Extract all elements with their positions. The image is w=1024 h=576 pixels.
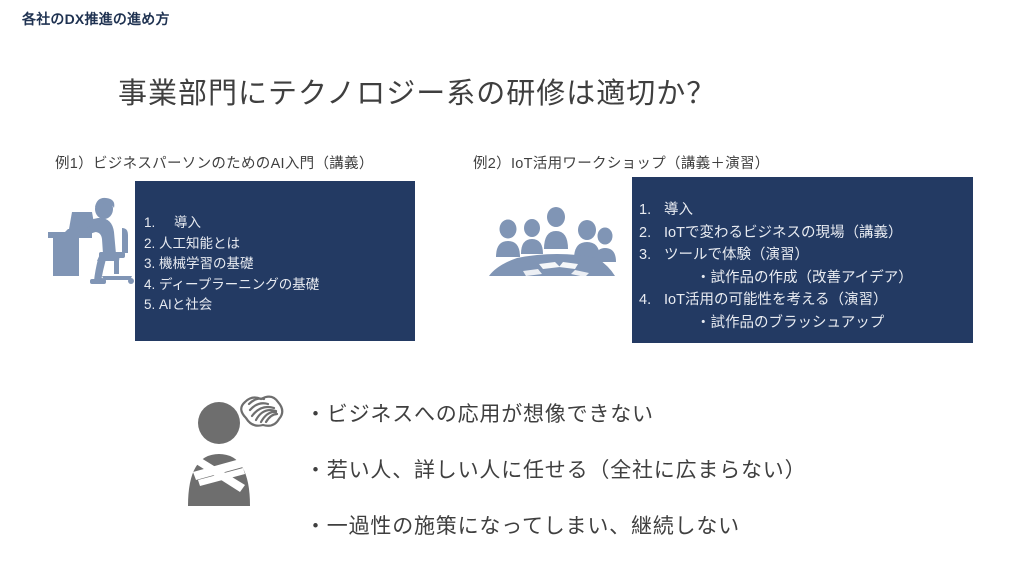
list-item-label: 導入: [159, 213, 201, 234]
list-sub-item-label: ・試作品の作成（改善アイデア）: [664, 267, 913, 290]
list-item-number: 5.: [144, 295, 159, 316]
list-item-label: IoT活用の可能性を考える（演習）: [664, 289, 888, 312]
list-item: 2. IoTで変わるビジネスの現場（講義）: [639, 222, 973, 245]
slide-header-title: 各社のDX推進の進め方: [22, 9, 170, 29]
list-item: 1. 導入: [639, 199, 973, 222]
list-item: 4. ディープラーニングの基礎: [144, 275, 415, 296]
list-item: 3. ツールで体験（演習）: [639, 244, 973, 267]
list-item: 2. 人工知能とは: [144, 234, 415, 255]
conclusion-line: ・一過性の施策になってしまい、継続しない: [305, 510, 806, 540]
page-title: 事業部門にテクノロジー系の研修は適切か？: [118, 70, 716, 112]
list-item-number: 3.: [639, 244, 664, 267]
list-item-label: IoTで変わるビジネスの現場（講義）: [664, 222, 902, 245]
list-item-number: 1.: [639, 199, 664, 222]
list-sub-item-label: ・試作品のブラッシュアップ: [664, 312, 884, 335]
conclusion-line: ・ビジネスへの応用が想像できない: [305, 398, 806, 428]
example-2-caption: 例2）IoT活用ワークショップ（講義＋演習）: [473, 152, 770, 173]
example-1-list: 1. 導入 2. 人工知能とは 3. 機械学習の基礎 4. ディープラーニングの…: [135, 181, 415, 341]
example-2-content-box: 1. 導入 2. IoTで変わるビジネスの現場（講義） 3. ツールで体験（演習…: [632, 177, 973, 343]
list-item-label: 導入: [664, 199, 693, 222]
list-item-label: 人工知能とは: [159, 234, 240, 255]
list-item: 4. IoT活用の可能性を考える（演習）: [639, 289, 973, 312]
list-item-number: 1.: [144, 213, 159, 234]
list-item-number: 2.: [144, 234, 159, 255]
example-1-content-box: 1. 導入 2. 人工知能とは 3. 機械学習の基礎 4. ディープラーニングの…: [135, 181, 415, 341]
group-meeting-around-table-icon: [487, 202, 627, 289]
example-2-list: 1. 導入 2. IoTで変わるビジネスの現場（講義） 3. ツールで体験（演習…: [632, 177, 973, 343]
slide-canvas: 各社のDX推進の進め方 事業部門にテクノロジー系の研修は適切か？ 例1）ビジネス…: [0, 0, 1024, 576]
confused-person-with-crossed-arms-icon: [182, 388, 287, 511]
conclusion-line: ・若い人、詳しい人に任せる（全社に広まらない）: [305, 454, 806, 484]
list-item: 3. 機械学習の基礎: [144, 254, 415, 275]
list-item-label: ディープラーニングの基礎: [159, 275, 319, 296]
conclusion-list: ・ビジネスへの応用が想像できない ・若い人、詳しい人に任せる（全社に広まらない）…: [305, 398, 806, 566]
list-item-label: 機械学習の基礎: [159, 254, 254, 275]
list-item: 5. AIと社会: [144, 295, 415, 316]
list-sub-item: ・試作品のブラッシュアップ: [639, 312, 973, 335]
person-at-desk-with-laptop-icon: [46, 196, 142, 291]
list-item-number: 4.: [639, 289, 664, 312]
example-1-caption: 例1）ビジネスパーソンのためのAI入門（講義）: [55, 152, 374, 173]
list-sub-item: ・試作品の作成（改善アイデア）: [639, 267, 973, 290]
list-item-number: 3.: [144, 254, 159, 275]
list-item-number: 4.: [144, 275, 159, 296]
list-item: 1. 導入: [144, 213, 415, 234]
list-item-label: ツールで体験（演習）: [664, 244, 809, 267]
list-item-number: 2.: [639, 222, 664, 245]
list-item-label: AIと社会: [159, 295, 212, 316]
